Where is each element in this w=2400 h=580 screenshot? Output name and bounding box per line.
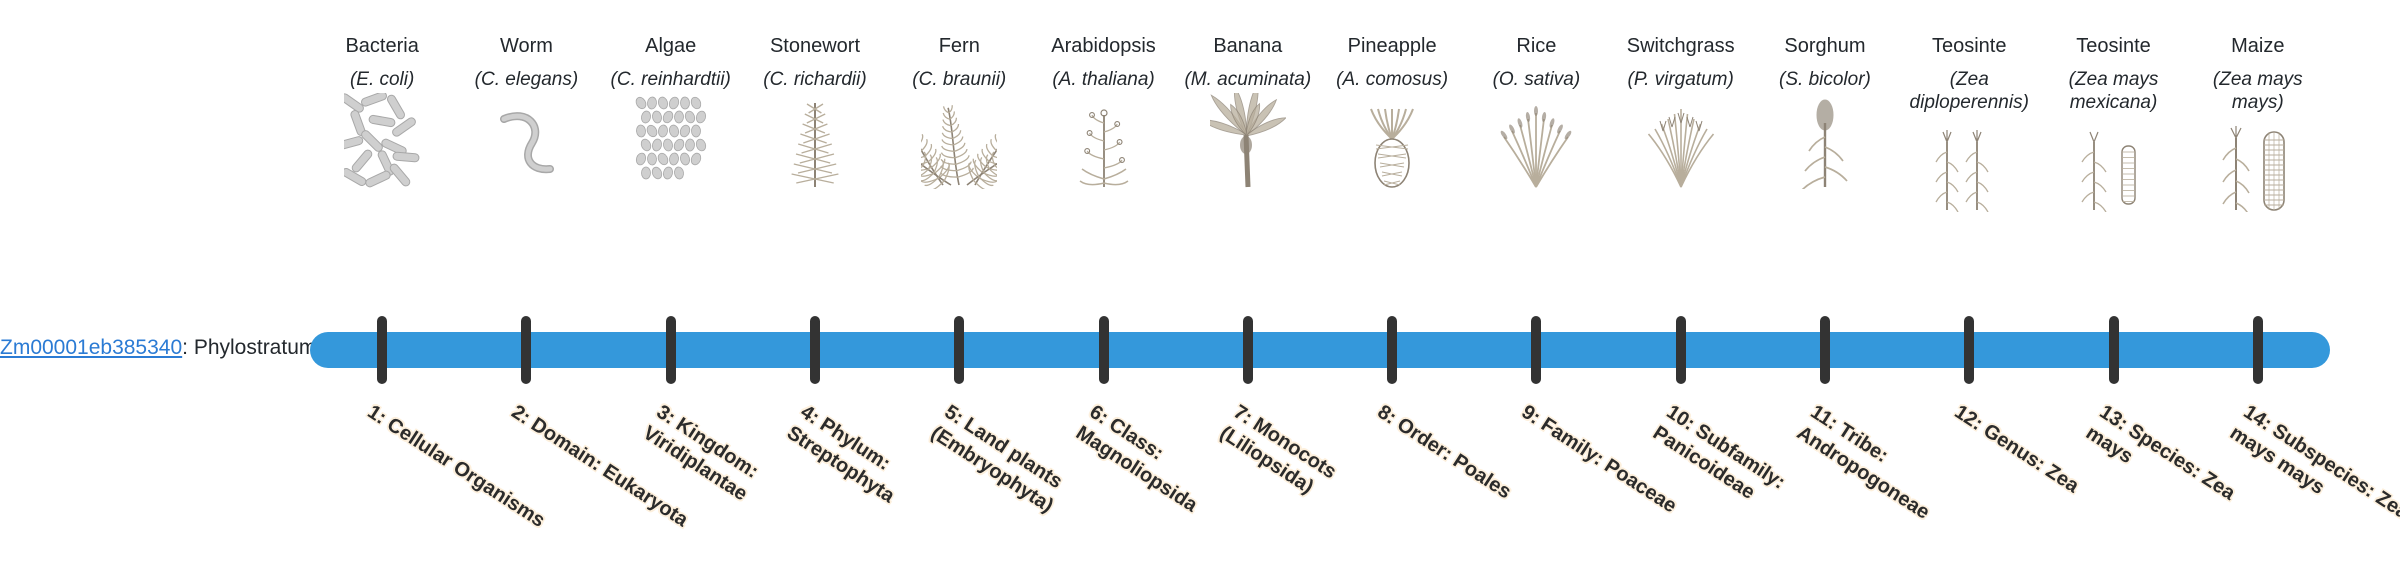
phylostratum-tick[interactable] xyxy=(810,316,820,384)
species-column: Fern(C. braunii) xyxy=(887,34,1031,189)
species-column: Algae(C. reinhardtii) xyxy=(599,34,743,189)
switchgrass-icon xyxy=(1609,97,1753,189)
species-common-name: Pineapple xyxy=(1348,34,1437,58)
phylostratum-tick[interactable] xyxy=(1243,316,1253,384)
species-common-name: Algae xyxy=(645,34,696,58)
phylostratum-tick[interactable] xyxy=(666,316,676,384)
teosinte-diploperennis-icon xyxy=(1897,120,2041,212)
bacteria-icon xyxy=(310,97,454,189)
species-scientific-name: (M. acuminata) xyxy=(1184,68,1311,91)
species-scientific-name: (A. thaliana) xyxy=(1052,68,1154,91)
phylostratigraphy-figure: Zm00001eb385340: Phylostratum 1 Bacteria… xyxy=(0,0,2400,580)
species-column: Rice(O. sativa) xyxy=(1464,34,1608,189)
species-column: Maize(Zea mays mays) xyxy=(2186,34,2330,212)
phylostratum-tick[interactable] xyxy=(1099,316,1109,384)
species-common-name: Teosinte xyxy=(1932,34,2007,58)
species-column: Pineapple(A. comosus) xyxy=(1320,34,1464,189)
phylostratum-tick[interactable] xyxy=(1676,316,1686,384)
species-scientific-name: (A. comosus) xyxy=(1336,68,1448,91)
phylostratum-tick[interactable] xyxy=(377,316,387,384)
species-scientific-name: (E. coli) xyxy=(350,68,414,91)
phylostratum-tick[interactable] xyxy=(1387,316,1397,384)
species-column: Banana(M. acuminata) xyxy=(1176,34,1320,189)
worm-icon xyxy=(454,97,598,189)
species-scientific-name: (Zea mays mays) xyxy=(2186,68,2330,114)
species-common-name: Banana xyxy=(1213,34,1282,58)
species-scientific-name: (C. elegans) xyxy=(475,68,579,91)
species-column: Arabidopsis(A. thaliana) xyxy=(1031,34,1175,189)
phylostratum-tick[interactable] xyxy=(2253,316,2263,384)
species-scientific-name: (P. virgatum) xyxy=(1628,68,1734,91)
species-scientific-name: (C. braunii) xyxy=(912,68,1006,91)
species-common-name: Arabidopsis xyxy=(1051,34,1156,58)
species-scientific-name: (C. richardii) xyxy=(763,68,866,91)
species-scientific-name: (O. sativa) xyxy=(1493,68,1581,91)
species-common-name: Teosinte xyxy=(2076,34,2151,58)
phylostratum-tick[interactable] xyxy=(521,316,531,384)
species-common-name: Fern xyxy=(939,34,980,58)
species-column: Teosinte(Zea mays mexicana) xyxy=(2041,34,2185,212)
phylostratum-bar[interactable] xyxy=(310,332,2330,368)
species-common-name: Rice xyxy=(1516,34,1556,58)
species-common-name: Stonewort xyxy=(770,34,860,58)
phylostratum-tick[interactable] xyxy=(1820,316,1830,384)
species-common-name: Sorghum xyxy=(1784,34,1865,58)
phylostratum-tick[interactable] xyxy=(2109,316,2119,384)
species-column: Bacteria(E. coli) xyxy=(310,34,454,189)
arabidopsis-icon xyxy=(1031,97,1175,189)
teosinte-mexicana-icon xyxy=(2041,120,2185,212)
species-common-name: Maize xyxy=(2231,34,2284,58)
species-scientific-name: (S. bicolor) xyxy=(1779,68,1871,91)
species-column: Stonewort(C. richardii) xyxy=(743,34,887,189)
species-common-name: Worm xyxy=(500,34,553,58)
species-column: Sorghum(S. bicolor) xyxy=(1753,34,1897,189)
algae-icon xyxy=(599,97,743,189)
gene-label-separator: : xyxy=(182,336,194,359)
gene-id-link[interactable]: Zm00001eb385340 xyxy=(0,336,182,359)
species-scientific-name: (C. reinhardtii) xyxy=(611,68,731,91)
rice-icon xyxy=(1464,97,1608,189)
phylostratum-tick[interactable] xyxy=(1531,316,1541,384)
species-column: Worm(C. elegans) xyxy=(454,34,598,189)
phylostratum-tick[interactable] xyxy=(954,316,964,384)
species-scientific-name: (Zea diploperennis) xyxy=(1897,68,2041,114)
species-column: Teosinte(Zea diploperennis) xyxy=(1897,34,2041,212)
species-header-row: Bacteria(E. coli)Worm(C. elegans)Algae(C… xyxy=(310,34,2330,284)
stonewort-icon xyxy=(743,97,887,189)
taxonomic-rank-labels: 1: Cellular Organisms2: Domain: Eukaryot… xyxy=(310,400,2330,580)
gene-phylostratum-label: Zm00001eb385340: Phylostratum 1 xyxy=(0,335,290,361)
species-column: Switchgrass(P. virgatum) xyxy=(1609,34,1753,189)
species-common-name: Bacteria xyxy=(345,34,418,58)
species-scientific-name: (Zea mays mexicana) xyxy=(2041,68,2185,114)
phylostratum-tick[interactable] xyxy=(1964,316,1974,384)
maize-icon xyxy=(2186,120,2330,212)
species-common-name: Switchgrass xyxy=(1627,34,1735,58)
sorghum-icon xyxy=(1753,97,1897,189)
pineapple-icon xyxy=(1320,97,1464,189)
phylostratum-timeline xyxy=(310,332,2330,368)
fern-icon xyxy=(887,97,1031,189)
banana-icon xyxy=(1176,97,1320,189)
